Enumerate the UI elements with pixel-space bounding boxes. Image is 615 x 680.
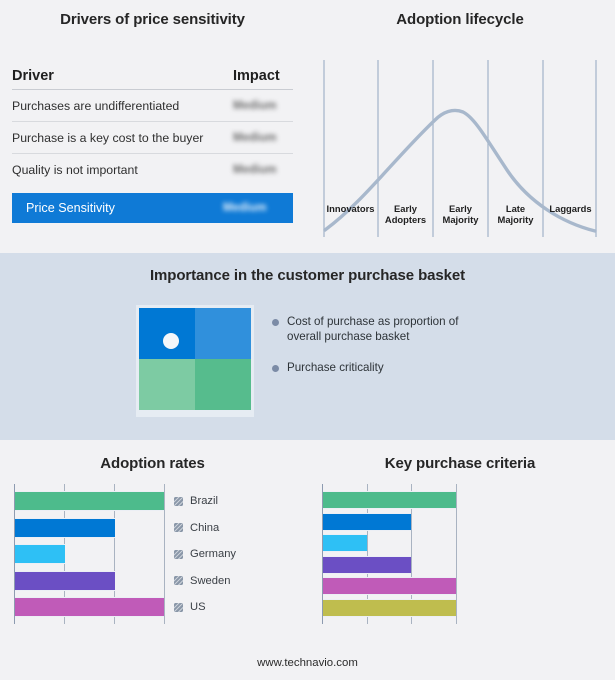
legend-item-sweden[interactable]: Sweden (174, 571, 236, 591)
bar-sweden (15, 571, 115, 591)
column-header-driver: Driver (12, 68, 233, 84)
adoption-rates-panel: Adoption rates Brazil (0, 440, 305, 680)
cell-driver: Price Sensitivity (26, 201, 223, 215)
basket-legend: Cost of purchase as proportion of overal… (272, 315, 572, 393)
legend-label: Brazil (190, 495, 218, 507)
lifecycle-stage-early-majority: Early Majority (433, 203, 488, 225)
legend-item-germany[interactable]: Germany (174, 544, 236, 564)
quadrant-matrix (139, 308, 251, 410)
lifecycle-stage-labels: Innovators Early Adopters Early Majority… (323, 203, 598, 225)
table-row[interactable]: Purchases are undifferentiated Medium (12, 90, 293, 122)
adoption-rates-title: Adoption rates (0, 455, 305, 472)
hatched-square-icon (174, 497, 183, 506)
legend-label: US (190, 601, 206, 613)
legend-label: Purchase criticality (287, 361, 384, 376)
bar-germany (15, 544, 65, 564)
bar-quality (323, 534, 367, 552)
purchase-basket-section: Importance in the customer purchase bask… (0, 253, 615, 440)
page-title: Drivers of price sensitivity (0, 11, 305, 28)
key-purchase-criteria-title: Key purchase criteria (305, 455, 615, 472)
cell-driver: Purchases are undifferentiated (12, 99, 233, 113)
matrix-quadrant-top-right (195, 308, 251, 359)
plot-area (322, 484, 457, 624)
legend-label: Germany (190, 548, 236, 560)
quadrant-matrix-container (136, 305, 254, 417)
legend-item-china[interactable]: China (174, 518, 236, 538)
bar-regulatory-compliance (323, 577, 456, 595)
legend-label: Cost of purchase as proportion of overal… (287, 315, 487, 344)
cell-impact: Medium (233, 132, 293, 144)
drivers-of-price-sensitivity-panel: Drivers of price sensitivity Driver Impa… (0, 0, 305, 253)
bottom-section: Adoption rates Brazil (0, 440, 615, 680)
cell-driver: Purchase is a key cost to the buyer (12, 131, 233, 145)
hatched-square-icon (174, 603, 183, 612)
lifecycle-stage-late-majority: Late Majority (488, 203, 543, 225)
lifecycle-title: Adoption lifecycle (305, 11, 615, 28)
drivers-table: Driver Impact Purchases are undifferenti… (12, 62, 293, 223)
cell-driver: Quality is not important (12, 163, 233, 177)
cell-impact: Medium (223, 202, 283, 214)
matrix-quadrant-bottom-right (195, 359, 251, 410)
plot-area (14, 484, 166, 624)
cell-impact: Medium (233, 100, 293, 112)
bar-relatability (323, 556, 411, 574)
lifecycle-stage-early-adopters: Early Adopters (378, 203, 433, 225)
hatched-square-icon (174, 523, 183, 532)
matrix-quadrant-bottom-left (139, 359, 195, 410)
bar-series (323, 491, 457, 617)
adoption-rates-chart (14, 484, 166, 624)
top-section: Drivers of price sensitivity Driver Impa… (0, 0, 615, 253)
legend-item: Purchase criticality (272, 361, 572, 376)
matrix-position-marker-dot (163, 333, 179, 349)
table-row[interactable]: Purchase is a key cost to the buyer Medi… (12, 122, 293, 154)
bar-price (323, 513, 411, 531)
basket-title: Importance in the customer purchase bask… (0, 267, 615, 284)
lifecycle-stage-innovators: Innovators (323, 203, 378, 225)
legend-item-us[interactable]: US (174, 597, 236, 617)
key-purchase-criteria-panel: Key purchase criteria Innovation (305, 440, 615, 680)
cell-impact: Medium (233, 164, 293, 176)
hatched-square-icon (174, 576, 183, 585)
legend-item-brazil[interactable]: Brazil (174, 491, 236, 511)
legend-label: Sweden (190, 575, 230, 587)
bar-innovation (323, 491, 456, 509)
table-row-highlighted-price-sensitivity[interactable]: Price Sensitivity Medium (12, 193, 293, 223)
bullet-icon (272, 319, 279, 326)
lifecycle-stage-laggards: Laggards (543, 203, 598, 225)
bar-china (15, 518, 115, 538)
footer-url[interactable]: www.technavio.com (0, 657, 615, 669)
bar-brazil (15, 491, 164, 511)
adoption-rates-legend: Brazil China Germany Sweden US (174, 484, 236, 624)
table-header-row: Driver Impact (12, 62, 293, 90)
bar-us (15, 597, 164, 617)
bullet-icon (272, 365, 279, 372)
bar-series (15, 491, 166, 617)
column-header-impact: Impact (233, 68, 293, 84)
legend-item: Cost of purchase as proportion of overal… (272, 315, 572, 344)
adoption-lifecycle-panel: Adoption lifecycle Innovators Early Adop… (305, 0, 615, 253)
hatched-square-icon (174, 550, 183, 559)
legend-label: China (190, 522, 219, 534)
bar-service (323, 599, 456, 617)
key-purchase-criteria-chart (322, 484, 457, 624)
table-row[interactable]: Quality is not important Medium (12, 154, 293, 186)
